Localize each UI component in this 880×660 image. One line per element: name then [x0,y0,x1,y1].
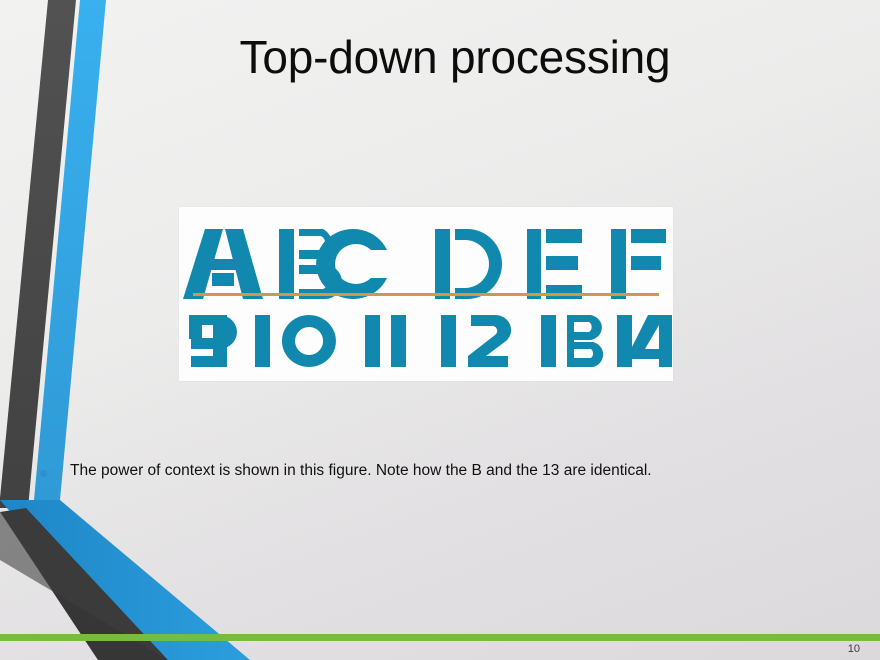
stencil-figure [179,207,673,381]
glyph-14 [617,315,672,367]
bullet-list: The power of context is shown in this fi… [40,461,840,482]
glyph-D [435,229,502,299]
glyph-E [527,229,582,299]
bullet-text: The power of context is shown in this fi… [70,461,652,482]
slide: Top-down processing [0,0,880,660]
glyph-10 [255,315,336,367]
glyph-A [183,229,263,299]
bullet-marker-icon [40,470,47,477]
page-title: Top-down processing [0,30,880,84]
footer-green-rule [0,634,880,641]
figure-panel [179,207,673,381]
glyph-12 [441,315,511,367]
glyph-F [611,229,666,299]
glyph-11 [365,315,406,367]
glyph-13 [541,315,603,367]
glyph-9 [189,315,237,367]
page-number: 10 [848,643,860,655]
glyph-C [316,229,387,299]
